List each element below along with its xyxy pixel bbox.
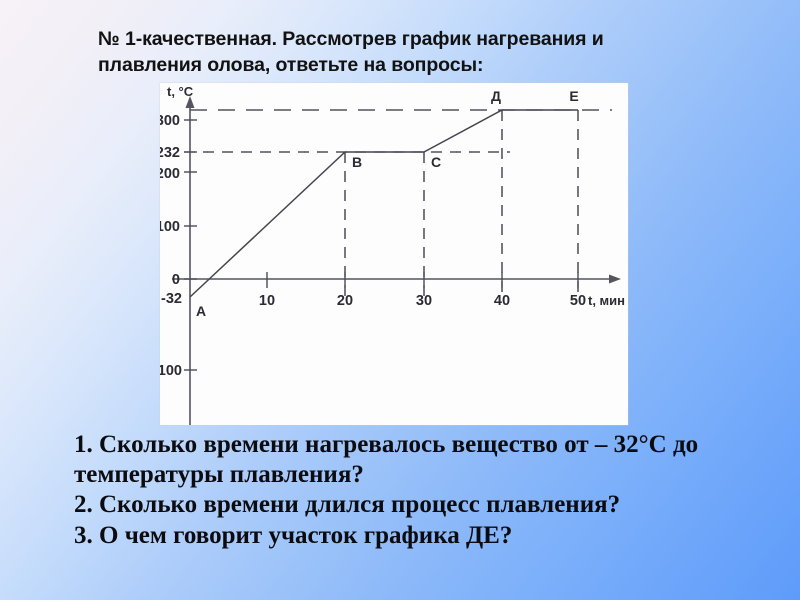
x-tick-label-50: 50 (570, 293, 586, 309)
question-3: 3. О чем говорит участок графика ДЕ? (74, 521, 754, 551)
x-axis-label: t, мин (588, 293, 625, 308)
slide-background: № 1-качественная. Рассмотрев график нагр… (0, 0, 800, 600)
y-tick-label-100: 100 (160, 219, 180, 235)
y-tick-label-0: 0 (172, 272, 180, 288)
y-tick-label-minus32: -32 (161, 291, 182, 307)
x-tick-label-20: 20 (337, 293, 353, 309)
x-tick-label-10: 10 (259, 293, 275, 309)
y-axis-label: t, °C (167, 84, 194, 99)
data-series-line (190, 110, 578, 297)
point-label-a: A (196, 303, 206, 319)
y-tick-label-300: 300 (160, 113, 180, 129)
question-1: 1. Сколько времени нагревалось вещество … (74, 430, 754, 489)
x-tick-label-30: 30 (416, 293, 432, 309)
point-label-d: Д (491, 88, 501, 104)
y-tick-label-200: 200 (160, 166, 180, 182)
question-2: 2. Сколько времени длился процесс плавле… (74, 490, 754, 520)
chart-panel: 300 232 200 100 0 -32 -100 10 20 30 40 5… (160, 83, 628, 425)
heating-melting-chart: 300 232 200 100 0 -32 -100 10 20 30 40 5… (160, 83, 628, 425)
y-tick-label-232: 232 (160, 145, 180, 161)
point-label-c: С (431, 154, 441, 170)
point-label-b: В (352, 154, 362, 170)
y-tick-label-minus100: -100 (160, 363, 182, 379)
questions-list: 1. Сколько времени нагревалось вещество … (74, 430, 754, 552)
point-label-e: Е (569, 88, 578, 104)
x-axis-arrow-icon (609, 275, 621, 284)
x-tick-label-40: 40 (494, 293, 510, 309)
page-title: № 1-качественная. Рассмотрев график нагр… (98, 26, 698, 78)
